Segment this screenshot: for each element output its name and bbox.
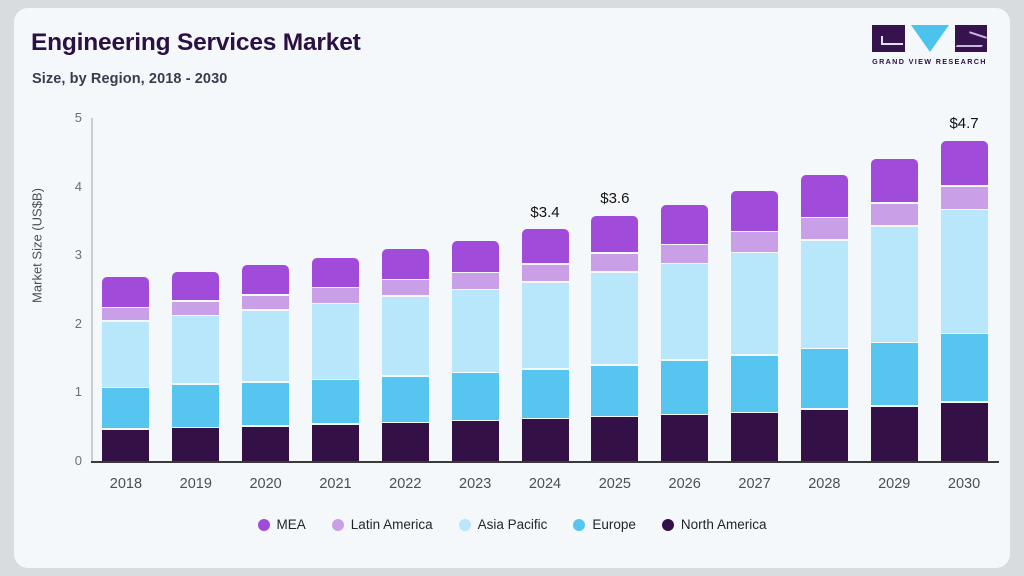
x-tick-2022: 2022 bbox=[365, 476, 445, 492]
bar-segment-europe[interactable] bbox=[801, 349, 848, 408]
bar-segment-latin-america[interactable] bbox=[591, 254, 638, 271]
bar-segment-north-america[interactable] bbox=[731, 413, 778, 461]
y-axis-line bbox=[91, 118, 93, 462]
bar-segment-north-america[interactable] bbox=[242, 427, 289, 461]
bar-segment-latin-america[interactable] bbox=[731, 232, 778, 252]
bar-segment-mea[interactable] bbox=[591, 216, 638, 253]
bar-segment-asia-pacific[interactable] bbox=[801, 241, 848, 348]
y-tick-3: 3 bbox=[52, 247, 82, 262]
bar-segment-asia-pacific[interactable] bbox=[452, 290, 499, 372]
bar-segment-latin-america[interactable] bbox=[522, 265, 569, 281]
legend-label: Latin America bbox=[351, 517, 433, 532]
bar-2030[interactable]: $4.7 bbox=[941, 139, 988, 461]
bar-segment-asia-pacific[interactable] bbox=[661, 264, 708, 359]
legend-swatch-icon bbox=[662, 519, 674, 531]
bar-segment-north-america[interactable] bbox=[382, 423, 429, 461]
bar-segment-north-america[interactable] bbox=[172, 428, 219, 461]
bar-segment-mea[interactable] bbox=[102, 277, 149, 306]
bar-segment-mea[interactable] bbox=[172, 272, 219, 301]
bar-segment-mea[interactable] bbox=[801, 175, 848, 217]
legend-item-north-america[interactable]: North America bbox=[662, 517, 767, 532]
bar-segment-europe[interactable] bbox=[661, 361, 708, 414]
y-tick-5: 5 bbox=[52, 110, 82, 125]
y-tick-4: 4 bbox=[52, 179, 82, 194]
bar-segment-north-america[interactable] bbox=[452, 421, 499, 461]
bar-segment-mea[interactable] bbox=[382, 249, 429, 278]
bar-segment-europe[interactable] bbox=[312, 380, 359, 423]
bar-2024[interactable]: $3.4 bbox=[522, 228, 569, 461]
bar-segment-europe[interactable] bbox=[591, 366, 638, 416]
bar-segment-mea[interactable] bbox=[312, 258, 359, 287]
legend-item-europe[interactable]: Europe bbox=[573, 517, 636, 532]
bar-segment-north-america[interactable] bbox=[871, 407, 918, 461]
legend-item-asia-pacific[interactable]: Asia Pacific bbox=[459, 517, 548, 532]
legend-label: North America bbox=[681, 517, 767, 532]
bar-segment-mea[interactable] bbox=[871, 159, 918, 203]
bar-value-label-2024: $3.4 bbox=[505, 204, 585, 221]
bar-2029[interactable] bbox=[871, 157, 918, 461]
bar-segment-mea[interactable] bbox=[661, 205, 708, 243]
legend-swatch-icon bbox=[332, 519, 344, 531]
bar-segment-asia-pacific[interactable] bbox=[731, 253, 778, 354]
legend-item-latin-america[interactable]: Latin America bbox=[332, 517, 433, 532]
bar-2023[interactable] bbox=[452, 239, 499, 461]
bar-segment-europe[interactable] bbox=[522, 370, 569, 418]
bar-segment-europe[interactable] bbox=[382, 377, 429, 422]
bar-segment-latin-america[interactable] bbox=[871, 204, 918, 225]
bar-segment-asia-pacific[interactable] bbox=[312, 304, 359, 379]
bar-segment-north-america[interactable] bbox=[522, 419, 569, 461]
x-tick-2027: 2027 bbox=[715, 476, 795, 492]
bar-segment-latin-america[interactable] bbox=[801, 218, 848, 239]
bar-segment-mea[interactable] bbox=[452, 241, 499, 272]
x-tick-2023: 2023 bbox=[435, 476, 515, 492]
bar-segment-asia-pacific[interactable] bbox=[242, 311, 289, 382]
bar-segment-latin-america[interactable] bbox=[661, 245, 708, 263]
bar-segment-europe[interactable] bbox=[102, 388, 149, 428]
legend-label: MEA bbox=[277, 517, 306, 532]
bar-segment-north-america[interactable] bbox=[591, 417, 638, 461]
bar-value-label-2030: $4.7 bbox=[924, 115, 1004, 132]
x-tick-2026: 2026 bbox=[645, 476, 725, 492]
bar-2025[interactable]: $3.6 bbox=[591, 214, 638, 461]
bar-segment-latin-america[interactable] bbox=[941, 187, 988, 209]
y-tick-1: 1 bbox=[52, 384, 82, 399]
bar-segment-latin-america[interactable] bbox=[312, 288, 359, 302]
legend-swatch-icon bbox=[573, 519, 585, 531]
chart-card: Engineering Services Market Size, by Reg… bbox=[14, 8, 1010, 568]
bar-segment-europe[interactable] bbox=[172, 385, 219, 427]
bar-segment-mea[interactable] bbox=[522, 229, 569, 263]
bar-2026[interactable] bbox=[661, 204, 708, 461]
bar-segment-europe[interactable] bbox=[452, 373, 499, 420]
legend-label: Europe bbox=[592, 517, 636, 532]
chart-legend: MEALatin AmericaAsia PacificEuropeNorth … bbox=[14, 517, 1010, 532]
x-tick-2021: 2021 bbox=[295, 476, 375, 492]
bar-value-label-2025: $3.6 bbox=[575, 190, 655, 207]
legend-swatch-icon bbox=[459, 519, 471, 531]
bar-segment-europe[interactable] bbox=[941, 334, 988, 401]
bar-segment-mea[interactable] bbox=[242, 265, 289, 294]
bar-segment-asia-pacific[interactable] bbox=[871, 227, 918, 342]
bar-segment-north-america[interactable] bbox=[661, 415, 708, 461]
y-axis-label: Market Size (US$B) bbox=[30, 161, 45, 331]
x-tick-2029: 2029 bbox=[854, 476, 934, 492]
x-tick-2030: 2030 bbox=[924, 476, 1004, 492]
bar-segment-latin-america[interactable] bbox=[382, 280, 429, 295]
bar-segment-asia-pacific[interactable] bbox=[522, 283, 569, 369]
legend-label: Asia Pacific bbox=[478, 517, 548, 532]
bar-segment-asia-pacific[interactable] bbox=[102, 322, 149, 387]
bar-2020[interactable] bbox=[242, 263, 289, 461]
stacked-bar-chart: Market Size (US$B) 012345 $3.4$3.6$4.7 2… bbox=[14, 8, 1010, 568]
x-tick-2024: 2024 bbox=[505, 476, 585, 492]
bar-segment-europe[interactable] bbox=[242, 383, 289, 425]
y-tick-0: 0 bbox=[52, 453, 82, 468]
x-tick-2018: 2018 bbox=[86, 476, 166, 492]
legend-item-mea[interactable]: MEA bbox=[258, 517, 306, 532]
bar-segment-asia-pacific[interactable] bbox=[591, 273, 638, 365]
bar-segment-north-america[interactable] bbox=[102, 430, 149, 461]
bar-segment-latin-america[interactable] bbox=[102, 308, 149, 320]
x-tick-2019: 2019 bbox=[156, 476, 236, 492]
x-tick-2025: 2025 bbox=[575, 476, 655, 492]
bar-segment-asia-pacific[interactable] bbox=[941, 210, 988, 333]
bar-2021[interactable] bbox=[312, 257, 359, 461]
x-tick-2028: 2028 bbox=[784, 476, 864, 492]
bar-segment-latin-america[interactable] bbox=[242, 296, 289, 310]
x-tick-2020: 2020 bbox=[226, 476, 306, 492]
bar-segment-europe[interactable] bbox=[871, 343, 918, 405]
bar-segment-north-america[interactable] bbox=[801, 410, 848, 461]
bar-segment-europe[interactable] bbox=[731, 356, 778, 412]
x-axis-line bbox=[91, 461, 999, 463]
bar-2018[interactable] bbox=[102, 276, 149, 461]
bar-2027[interactable] bbox=[731, 189, 778, 461]
bar-segment-north-america[interactable] bbox=[941, 403, 988, 461]
bar-segment-asia-pacific[interactable] bbox=[172, 316, 219, 383]
bar-segment-latin-america[interactable] bbox=[172, 302, 219, 315]
legend-swatch-icon bbox=[258, 519, 270, 531]
bar-segment-north-america[interactable] bbox=[312, 425, 359, 461]
bar-segment-latin-america[interactable] bbox=[452, 273, 499, 289]
bar-segment-mea[interactable] bbox=[941, 141, 988, 185]
bar-2028[interactable] bbox=[801, 174, 848, 461]
bar-2019[interactable] bbox=[172, 270, 219, 461]
bar-segment-asia-pacific[interactable] bbox=[382, 297, 429, 376]
y-tick-2: 2 bbox=[52, 316, 82, 331]
bar-2022[interactable] bbox=[382, 248, 429, 461]
bar-segment-mea[interactable] bbox=[731, 191, 778, 231]
